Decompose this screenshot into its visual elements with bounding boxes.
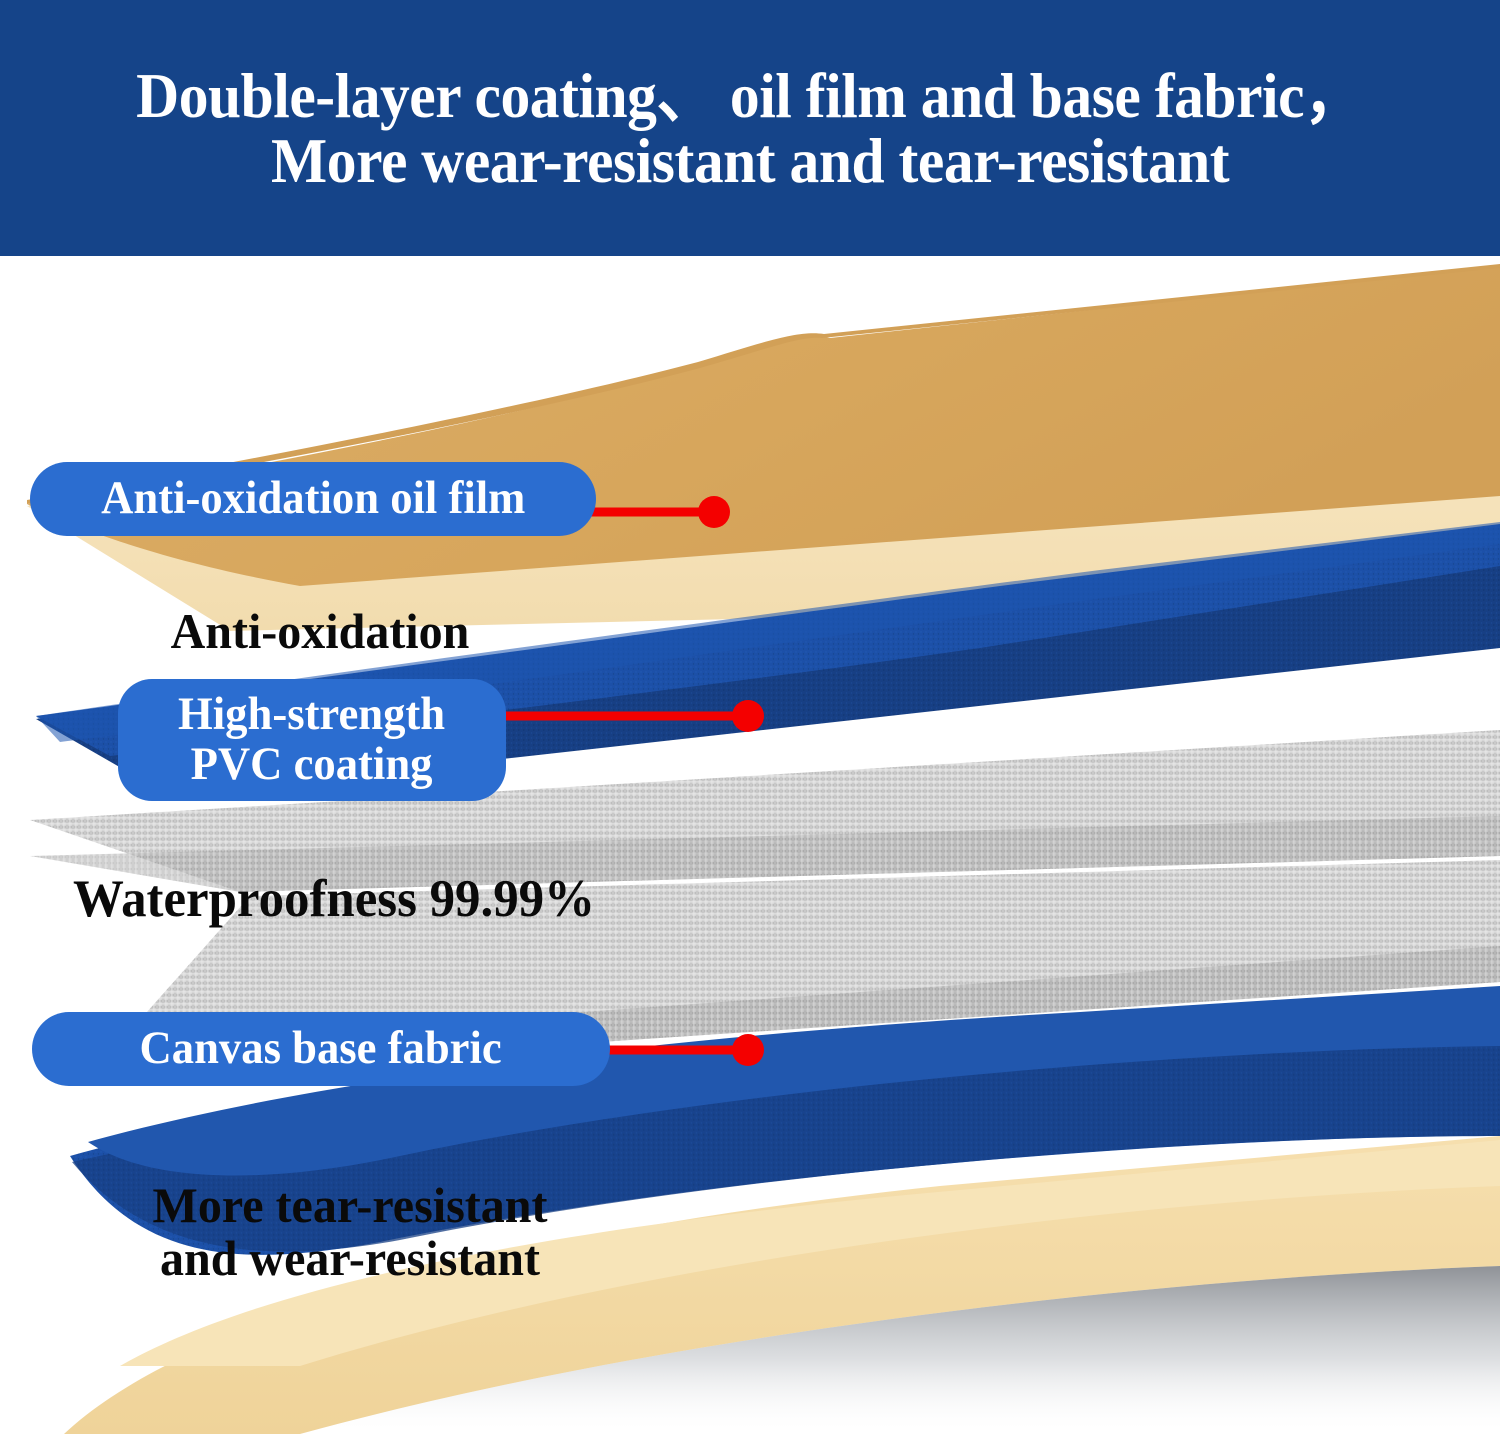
callout-caption-canvas-base: More tear-resistant and wear-resistant — [60, 1126, 640, 1338]
banner-title-line-1: Double-layer coating、 oil film and base … — [137, 63, 1364, 128]
leader-dot-oil-film — [698, 496, 730, 528]
callout-caption-oil-film-text: Anti-oxidation — [70, 605, 569, 658]
callout-caption-pvc-coating-text: Waterproofness 99.99% — [27, 871, 641, 927]
product-feature-infographic: Double-layer coating、 oil film and base … — [0, 0, 1500, 1434]
callout-caption-oil-film: Anti-oxidation — [60, 552, 580, 711]
callout-badge-oil-film-label: Anti-oxidation oil film — [101, 474, 525, 524]
leader-dot-pvc — [732, 700, 764, 732]
callout-caption-pvc-coating: Waterproofness 99.99% — [14, 815, 654, 984]
callout-badge-oil-film[interactable]: Anti-oxidation oil film — [30, 462, 596, 536]
callout-badge-canvas-base[interactable]: Canvas base fabric — [32, 1012, 610, 1086]
header-banner: Double-layer coating、 oil film and base … — [0, 0, 1500, 256]
callout-badge-canvas-base-label: Canvas base fabric — [140, 1024, 502, 1074]
leader-dot-canvas — [732, 1034, 764, 1066]
banner-title-line-2: More wear-resistant and tear-resistant — [271, 128, 1229, 193]
callout-caption-canvas-base-text: More tear-resistant and wear-resistant — [72, 1179, 629, 1285]
